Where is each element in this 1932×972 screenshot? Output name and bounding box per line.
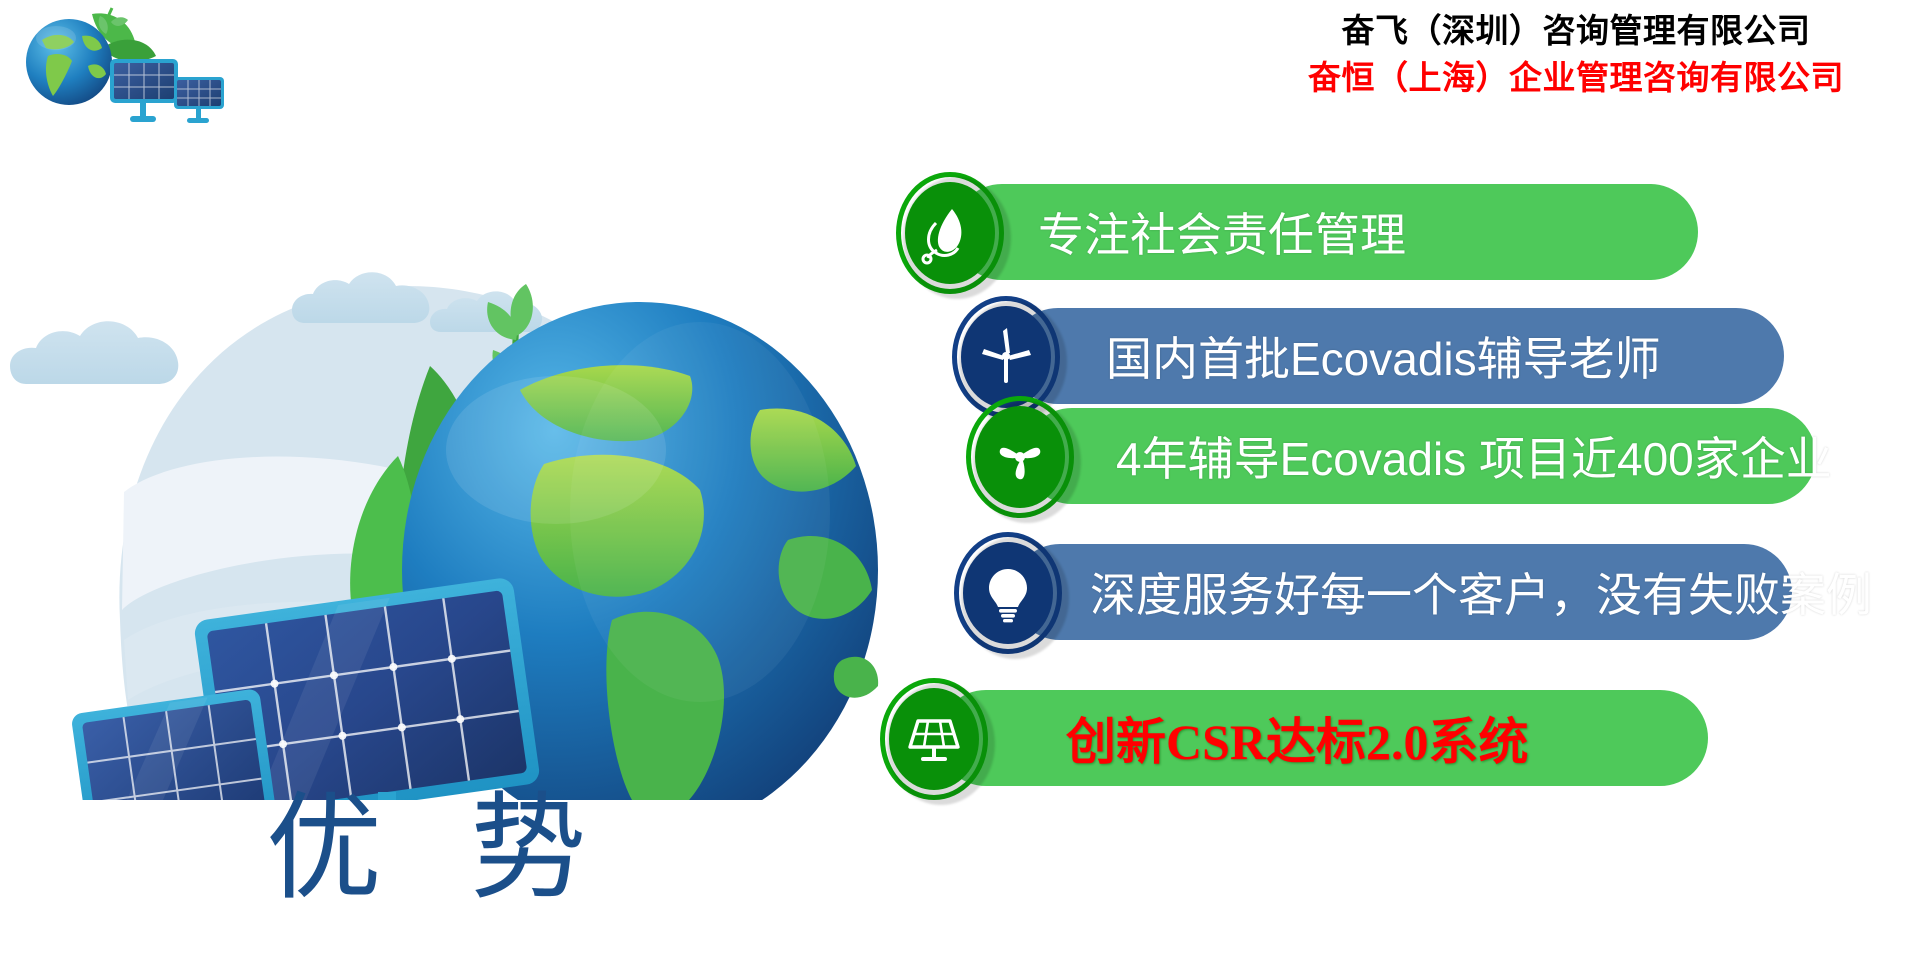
feature-pill[interactable]: 深度服务好每一个客户，没有失败案例	[1012, 544, 1792, 640]
feature-badge[interactable]	[896, 172, 1004, 294]
feature-pill[interactable]: 专注社会责任管理	[954, 184, 1698, 280]
feature-row[interactable]: 4年辅导Ecovadis 项目近400家企业	[966, 396, 1826, 516]
wind-turbine-icon	[974, 325, 1038, 389]
company-name-secondary: 奋恒（上海）企业管理咨询有限公司	[1256, 55, 1896, 102]
slide-canvas: 奋飞（深圳）咨询管理有限公司 奋恒（上海）企业管理咨询有限公司	[0, 0, 1932, 972]
solar-panel-icon	[902, 707, 966, 771]
leaf-icon	[918, 201, 982, 265]
feature-badge[interactable]	[880, 678, 988, 800]
feature-row[interactable]: 深度服务好每一个客户，没有失败案例	[954, 532, 1800, 652]
globe-solar-panels-leaves-illustration	[0, 140, 880, 800]
company-name-primary: 奋飞（深圳）咨询管理有限公司	[1256, 8, 1896, 55]
feature-label: 深度服务好每一个客户，没有失败案例	[1090, 559, 1872, 625]
company-name-block: 奋飞（深圳）咨询管理有限公司 奋恒（上海）企业管理咨询有限公司	[1256, 8, 1896, 102]
feature-pill[interactable]: 4年辅导Ecovadis 项目近400家企业	[1024, 408, 1816, 504]
fan-propeller-icon	[988, 425, 1052, 489]
feature-label: 国内首批Ecovadis辅导老师	[1106, 323, 1661, 389]
feature-pill[interactable]: 国内首批Ecovadis辅导老师	[1010, 308, 1784, 404]
feature-row[interactable]: 专注社会责任管理	[896, 172, 1716, 292]
solar-panel-small	[71, 688, 278, 800]
feature-label: 4年辅导Ecovadis 项目近400家企业	[1116, 423, 1832, 489]
feature-badge[interactable]	[966, 396, 1074, 518]
feature-pill[interactable]: 创新CSR达标2.0系统	[938, 690, 1708, 786]
company-logo-globe-solar	[6, 4, 236, 124]
feature-label: 创新CSR达标2.0系统	[1066, 702, 1529, 774]
feature-badge[interactable]	[954, 532, 1062, 654]
lightbulb-icon	[976, 561, 1040, 625]
feature-row[interactable]: 创新CSR达标2.0系统	[880, 678, 1720, 798]
feature-label: 专注社会责任管理	[1038, 199, 1406, 265]
page-title: 优 势	[196, 790, 656, 906]
